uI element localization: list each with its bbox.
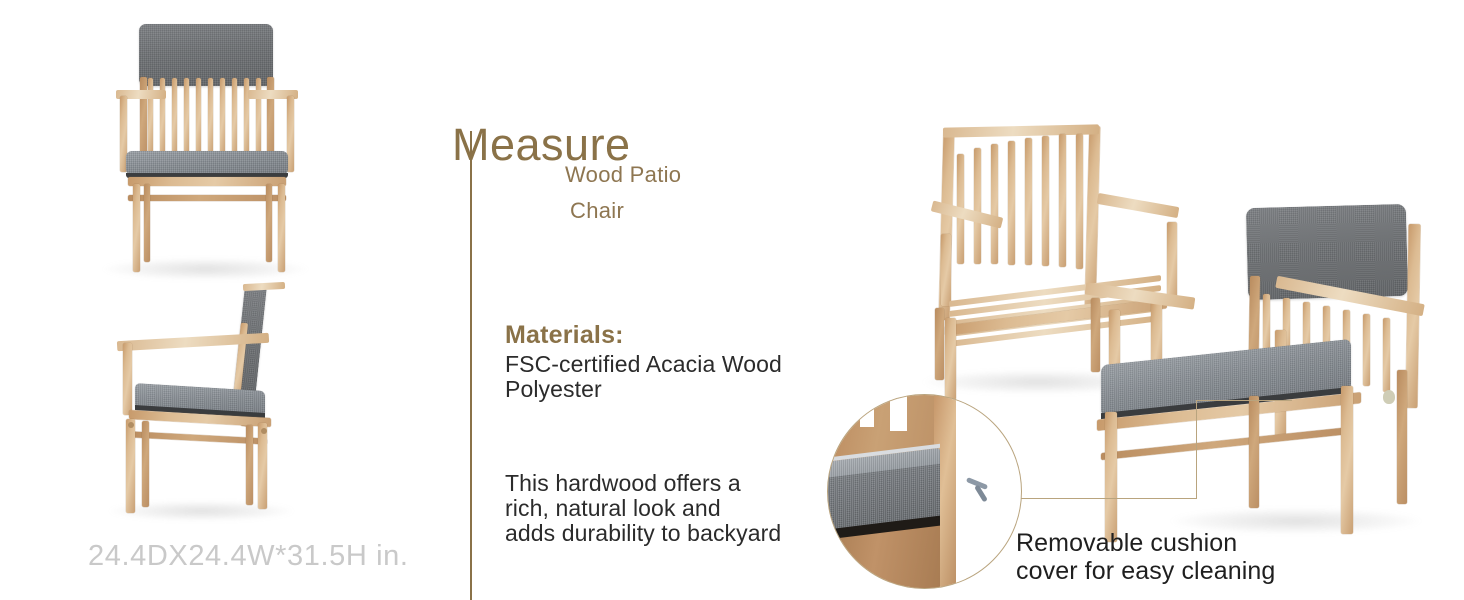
- materials-label: Materials:: [505, 321, 624, 350]
- leg-back-far: [246, 425, 253, 505]
- backrest-slats: [957, 134, 1085, 264]
- inset-slat-gap: [890, 394, 907, 431]
- leg-front-right: [278, 184, 285, 272]
- seat-cushion: [126, 151, 288, 175]
- backrest-slats: [148, 78, 265, 156]
- bolt-icon: [261, 428, 267, 434]
- vertical-divider: [470, 131, 472, 600]
- description-line-3: adds durability to backyard: [505, 519, 781, 547]
- arm-post-right: [287, 96, 294, 172]
- leg-back-right: [1091, 298, 1100, 372]
- back-top-rail: [243, 282, 285, 291]
- leg-front-right: [1341, 386, 1353, 534]
- subtitle-line-2: Chair: [570, 197, 624, 225]
- back-cushion: [139, 24, 273, 86]
- seat-apron: [128, 177, 286, 186]
- leg-back-left: [935, 308, 944, 380]
- callout-line-2: cover for easy cleaning: [1016, 557, 1275, 587]
- inset-slat-gap: [860, 394, 874, 427]
- subtitle-line-1: Wood Patio: [565, 161, 681, 189]
- lifestyle-chair-front: [1145, 190, 1464, 550]
- product-infographic: 24.4DX24.4W*31.5H in. Measure Wood Patio…: [0, 0, 1464, 600]
- leg-back-right: [1397, 370, 1407, 504]
- leg-back-left: [1249, 396, 1259, 508]
- dimension-label: 24.4DX24.4W*31.5H in.: [88, 540, 409, 573]
- back-post-right: [1405, 224, 1420, 408]
- leg-front: [126, 419, 135, 513]
- arm-post-left: [941, 234, 951, 306]
- leg-back-left: [144, 184, 150, 262]
- seat-rail: [128, 195, 286, 201]
- product-side-view: [95, 283, 320, 533]
- leg-front-far: [142, 421, 149, 507]
- leader-line-horizontal-bottom: [1018, 498, 1197, 499]
- product-front-view: [95, 22, 320, 287]
- back-post-right: [1085, 126, 1101, 308]
- lower-rail: [1101, 427, 1351, 460]
- bolt-icon: [128, 422, 134, 428]
- callout-line-1: Removable cushion: [1016, 529, 1237, 559]
- cushion-tie-icon: [1383, 390, 1395, 404]
- leader-line-horizontal-top: [1196, 400, 1292, 401]
- inset-post-shadow: [956, 394, 966, 589]
- leader-line-vertical: [1196, 400, 1197, 499]
- leg-back-right: [266, 184, 272, 262]
- detail-inset-circle: [827, 394, 1022, 589]
- leg-front-left: [945, 318, 956, 400]
- leg-back: [258, 423, 267, 509]
- materials-line-2: Polyester: [505, 375, 602, 403]
- arm-front-post: [123, 343, 132, 415]
- leg-front-left: [133, 184, 140, 272]
- leg-front-left: [1105, 412, 1117, 542]
